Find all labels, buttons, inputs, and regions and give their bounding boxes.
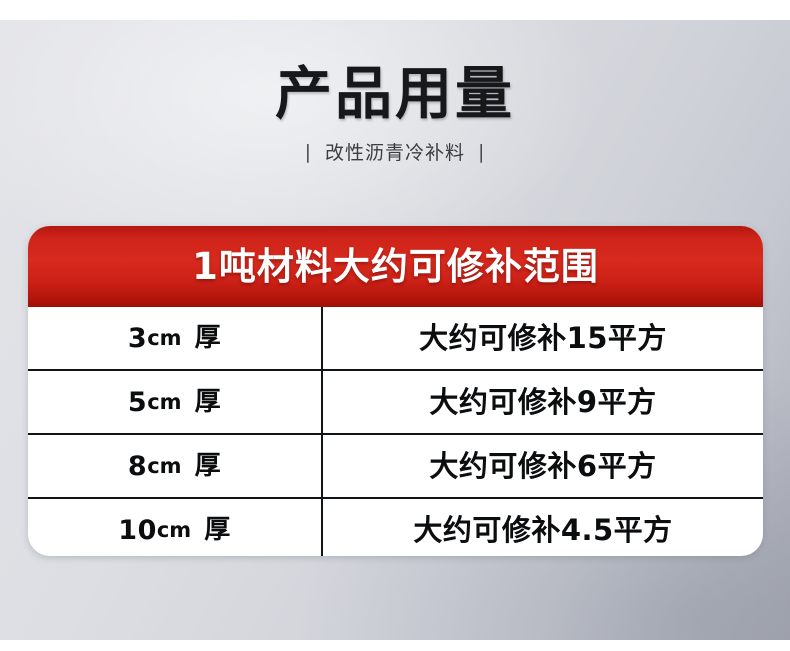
- thickness-unit: cm: [147, 392, 181, 413]
- thickness-value: 3: [128, 325, 147, 352]
- table-header-title: 1吨材料大约可修补范围: [192, 248, 599, 285]
- usage-table: 3cm厚大约可修补15平方5cm厚大约可修补9平方8cm厚大约可修补6平方10c…: [28, 307, 763, 556]
- thickness-value: 8: [128, 453, 147, 480]
- table-row: 8cm厚大约可修补6平方: [28, 435, 763, 499]
- cell-repair-area: 大约可修补9平方: [323, 371, 763, 433]
- thickness-unit: cm: [157, 520, 191, 541]
- thickness-unit: cm: [147, 456, 181, 477]
- product-usage-infographic: 产品用量 | 改性沥青冷补料 | 1吨材料大约可修补范围 3cm厚大约可修补15…: [0, 0, 790, 651]
- thickness-label: 厚: [195, 453, 222, 479]
- cell-repair-area: 大约可修补15平方: [323, 307, 763, 369]
- thickness-value: 10: [118, 517, 157, 544]
- table-header-banner: 1吨材料大约可修补范围: [28, 226, 763, 307]
- thickness-label: 厚: [195, 325, 222, 351]
- subtitle-divider-right-icon: |: [478, 141, 485, 163]
- thickness-label: 厚: [195, 389, 222, 415]
- subtitle-row: | 改性沥青冷补料 |: [0, 138, 790, 165]
- cell-thickness: 3cm厚: [28, 307, 323, 369]
- cell-thickness: 8cm厚: [28, 435, 323, 497]
- cell-repair-area: 大约可修补6平方: [323, 435, 763, 497]
- thickness-label: 厚: [204, 517, 231, 543]
- page-subtitle: 改性沥青冷补料: [325, 138, 465, 165]
- heading-block: 产品用量 | 改性沥青冷补料 |: [0, 66, 790, 165]
- usage-table-card: 1吨材料大约可修补范围 3cm厚大约可修补15平方5cm厚大约可修补9平方8cm…: [28, 226, 763, 556]
- table-row: 10cm厚大约可修补4.5平方: [28, 499, 763, 556]
- cell-thickness: 10cm厚: [28, 499, 323, 556]
- cell-repair-area: 大约可修补4.5平方: [323, 499, 763, 556]
- subtitle-divider-left-icon: |: [305, 141, 312, 163]
- cell-thickness: 5cm厚: [28, 371, 323, 433]
- thickness-value: 5: [128, 389, 147, 416]
- table-row: 3cm厚大约可修补15平方: [28, 307, 763, 371]
- table-row: 5cm厚大约可修补9平方: [28, 371, 763, 435]
- page-title: 产品用量: [0, 66, 790, 123]
- thickness-unit: cm: [147, 328, 181, 349]
